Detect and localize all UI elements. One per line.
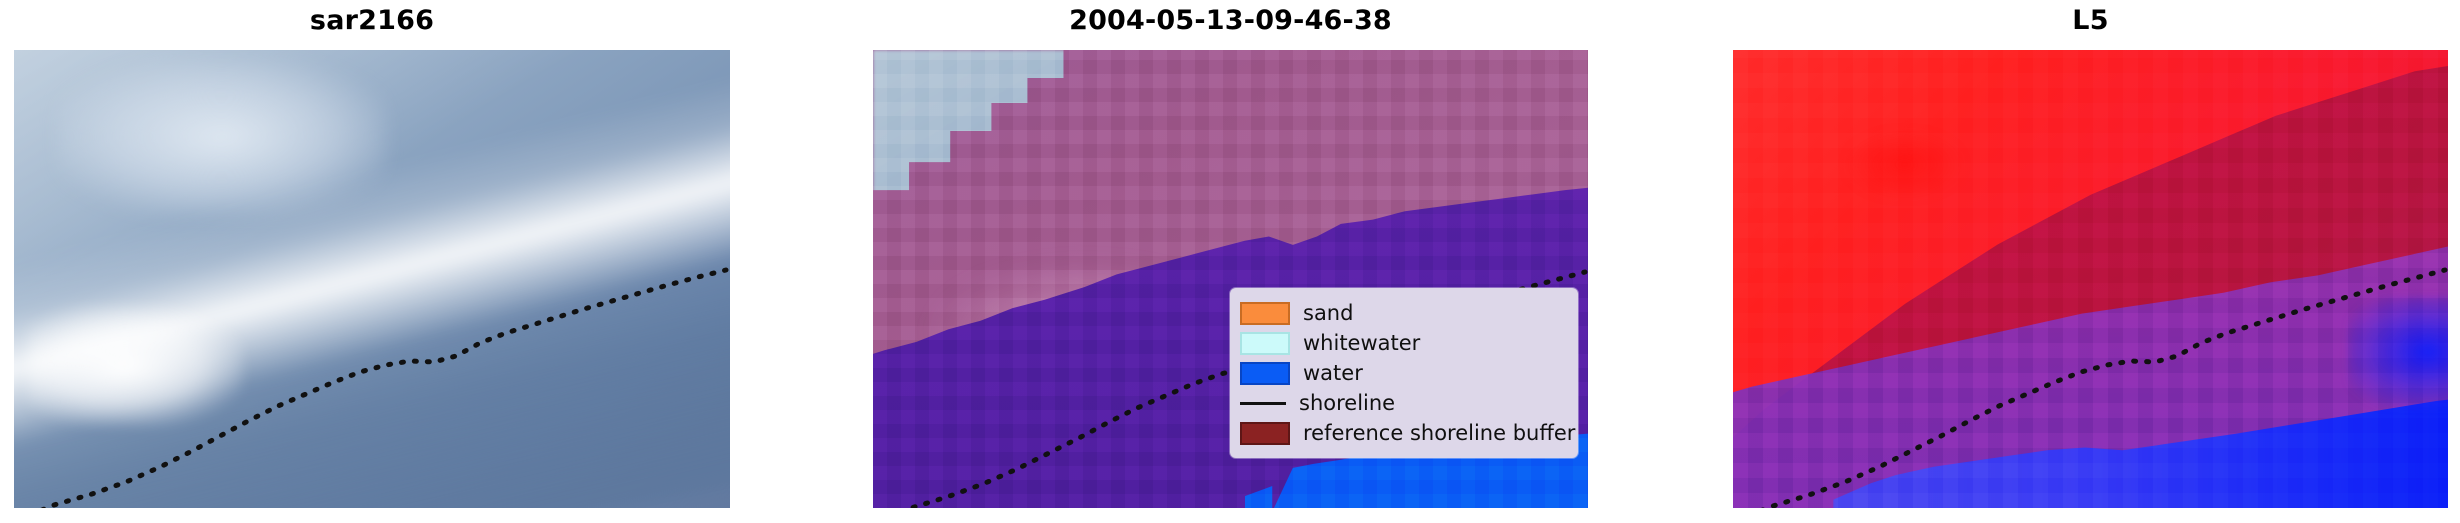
legend-label-reference-shoreline-buffer: reference shoreline buffer — [1303, 423, 1575, 444]
image-panel-classified[interactable]: sand whitewater water shoreline referenc… — [873, 50, 1588, 508]
legend-swatch-sand — [1240, 302, 1290, 325]
panel-title-date: 2004-05-13-09-46-38 — [873, 4, 1588, 38]
shoreline-overlay-panel-3 — [1733, 50, 2448, 508]
shoreline-path — [18, 270, 726, 508]
image-panel-l5[interactable] — [1733, 50, 2448, 508]
legend-box[interactable]: sand whitewater water shoreline referenc… — [1230, 288, 1578, 458]
panel-title-sar2166: sar2166 — [14, 4, 730, 38]
legend-swatch-whitewater — [1240, 332, 1290, 355]
panel-title-l5: L5 — [1733, 4, 2448, 38]
legend-label-water: water — [1303, 363, 1363, 384]
legend-item-water: water — [1240, 358, 1566, 388]
legend-item-sand: sand — [1240, 298, 1566, 328]
legend-swatch-water — [1240, 362, 1290, 385]
legend-item-shoreline: shoreline — [1240, 388, 1566, 418]
legend-item-whitewater: whitewater — [1240, 328, 1566, 358]
legend-label-shoreline: shoreline — [1299, 393, 1395, 414]
legend-item-reference-shoreline-buffer: reference shoreline buffer — [1240, 418, 1566, 448]
shoreline-path — [1737, 270, 2445, 508]
legend-line-shoreline — [1240, 394, 1286, 413]
legend-label-sand: sand — [1303, 303, 1353, 324]
legend-swatch-reference-shoreline-buffer — [1240, 422, 1290, 445]
figure-canvas: sar2166 2004-05-13-09-46-38 L5 sand — [0, 0, 2460, 523]
legend-label-whitewater: whitewater — [1303, 333, 1420, 354]
image-panel-sar2166[interactable] — [14, 50, 730, 508]
shoreline-overlay-panel-1 — [14, 50, 730, 508]
